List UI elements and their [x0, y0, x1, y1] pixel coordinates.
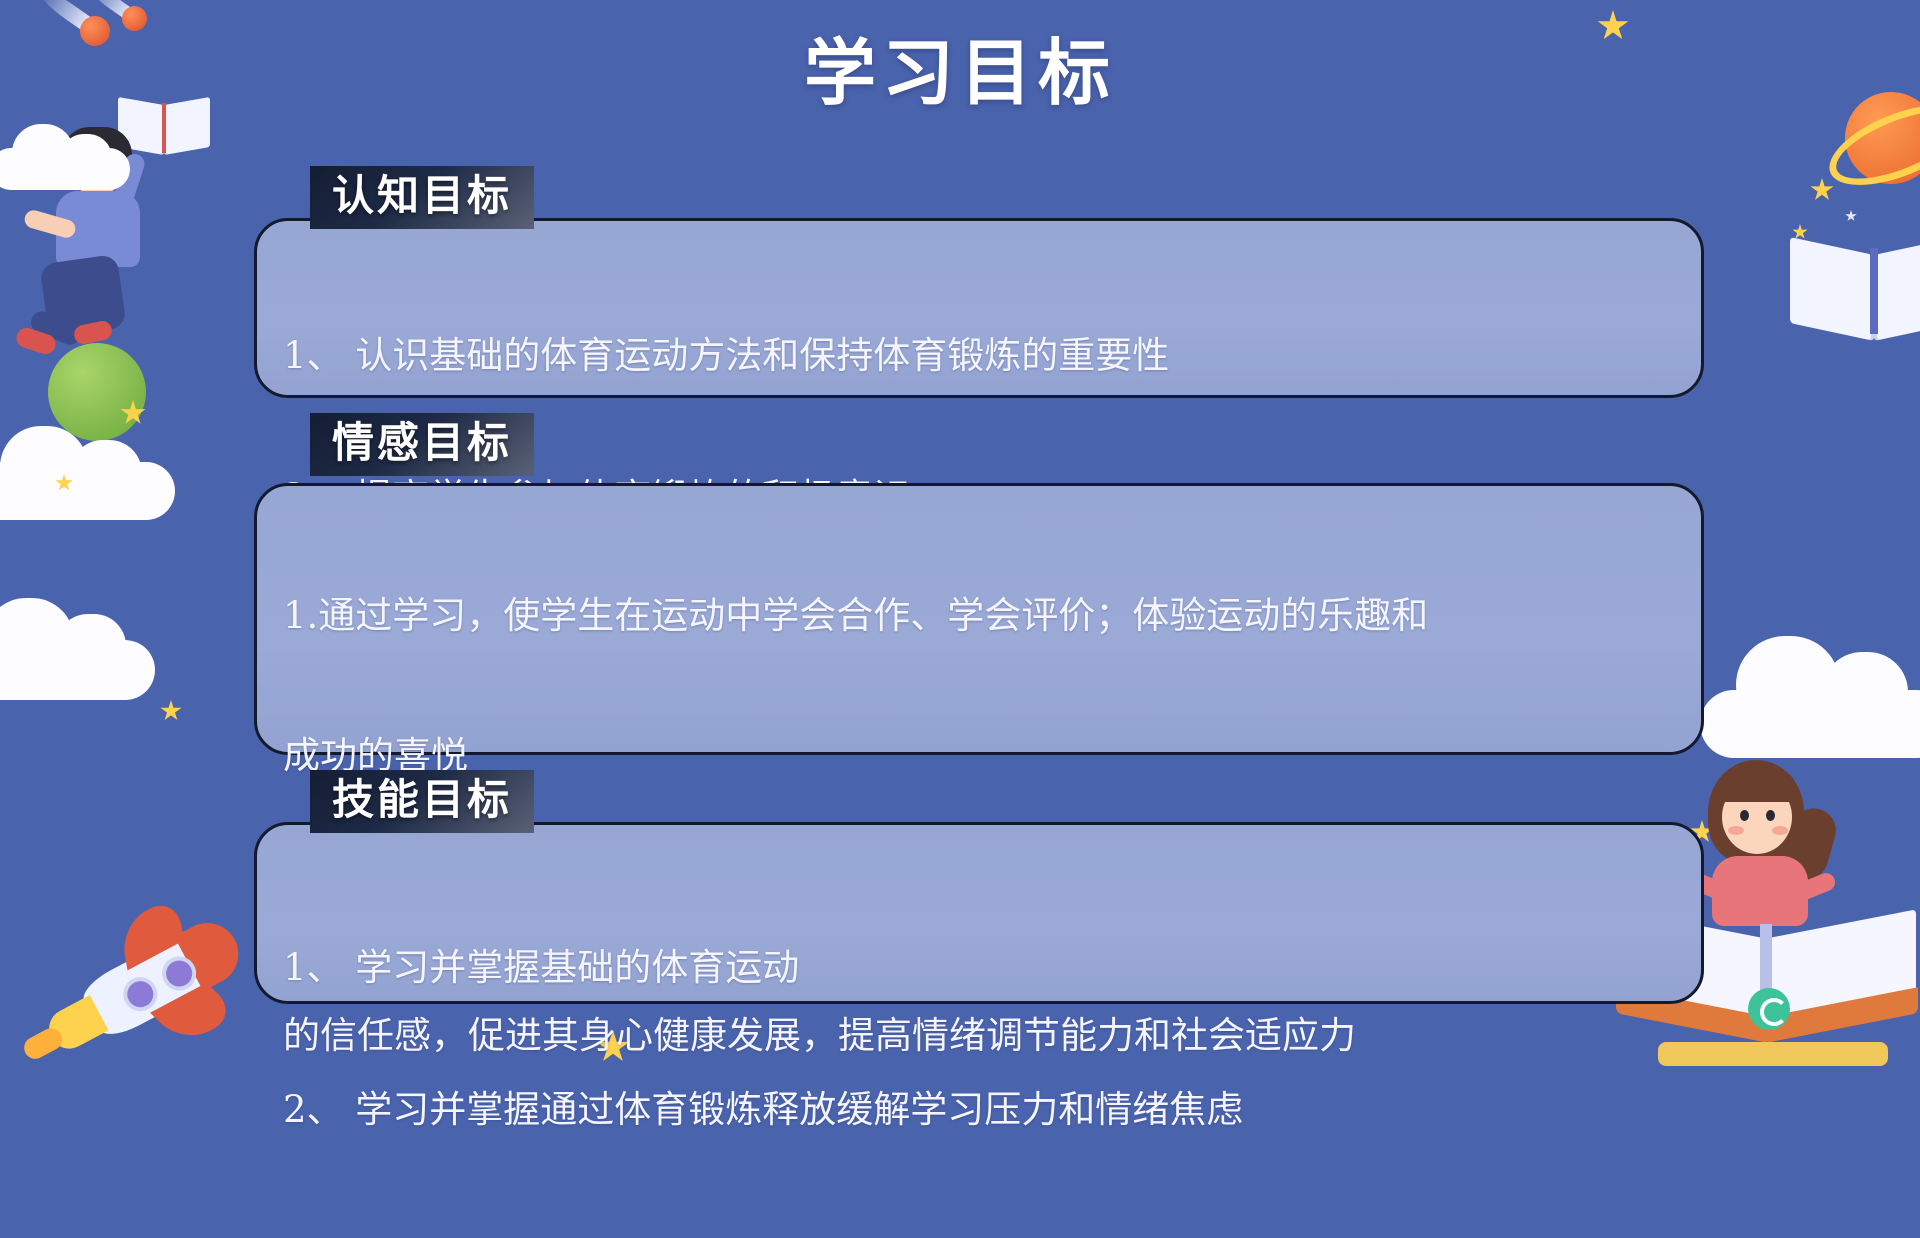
section-badge: 情感目标: [310, 413, 534, 476]
cloud-icon: [0, 590, 160, 700]
star-icon: [1845, 210, 1857, 222]
body-line: 1、 认识基础的体育运动方法和保持体育锻炼的重要性: [283, 332, 1675, 379]
star-icon: [160, 700, 182, 722]
section-badge: 技能目标: [310, 770, 534, 833]
open-book-icon: [1790, 230, 1920, 350]
star-icon: [1810, 178, 1834, 202]
section-body: 1、 学习并掌握基础的体育运动 2、 学习并掌握通过体育锻炼释放缓解学习压力和情…: [257, 825, 1701, 1238]
section-panel: 1.通过学习，使学生在运动中学会合作、学会评价；体验运动的乐趣和 成功的喜悦 2…: [254, 483, 1704, 755]
section-panel: 1、 认识基础的体育运动方法和保持体育锻炼的重要性 2、 提高学生参加体育锻炼的…: [254, 218, 1704, 398]
body-line: 2、 学习并掌握通过体育锻炼释放缓解学习压力和情绪焦虑: [283, 1086, 1675, 1133]
page-title: 学习目标: [0, 14, 1920, 119]
cloud-icon: [0, 420, 185, 520]
rocket-icon: [5, 878, 274, 1123]
body-line: 1.通过学习，使学生在运动中学会合作、学会评价；体验运动的乐趣和: [283, 593, 1675, 640]
cloud-icon: [0, 120, 140, 190]
body-line: 1、 学习并掌握基础的体育运动: [283, 944, 1675, 991]
section-panel: 1、 学习并掌握基础的体育运动 2、 学习并掌握通过体育锻炼释放缓解学习压力和情…: [254, 822, 1704, 1004]
cloud-icon: [1700, 630, 1920, 760]
section-badge: 认知目标: [310, 166, 534, 229]
star-icon: [1792, 224, 1808, 240]
